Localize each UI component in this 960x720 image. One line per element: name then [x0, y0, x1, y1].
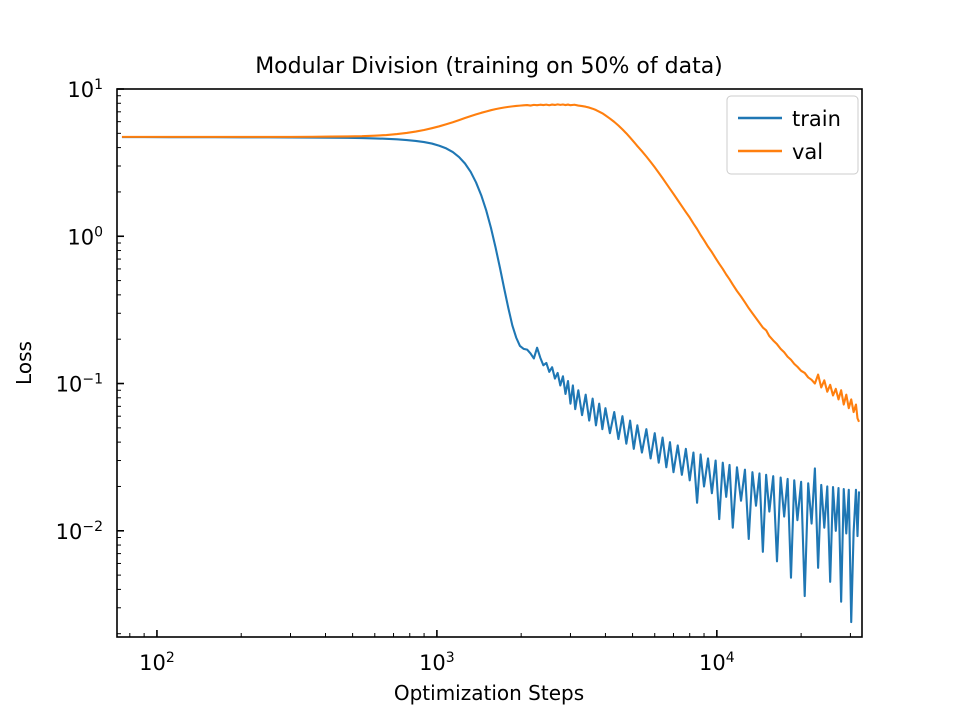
chart-legend: trainval [727, 96, 858, 174]
legend-label-val: val [792, 140, 823, 164]
loss-curve-chart: Modular Division (training on 50% of dat… [0, 0, 960, 720]
chart-title: Modular Division (training on 50% of dat… [255, 54, 723, 79]
x-axis-label: Optimization Steps [394, 681, 584, 705]
legend-label-train: train [792, 107, 841, 131]
y-axis-label: Loss [12, 341, 36, 385]
matplotlib-figure: Modular Division (training on 50% of dat… [0, 0, 960, 720]
